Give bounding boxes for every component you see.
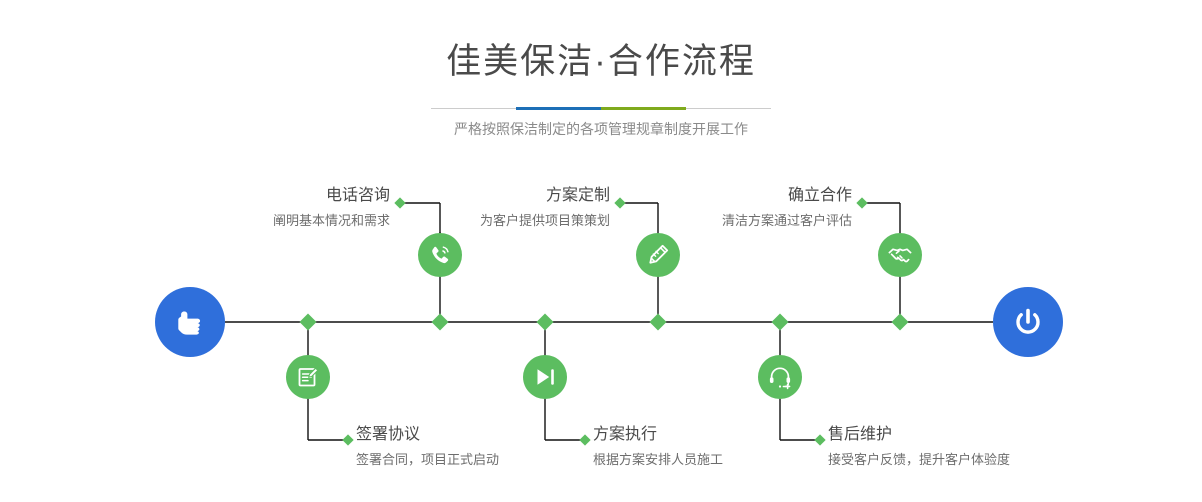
step-label-1: 电话咨询 阐明基本情况和需求 <box>150 188 390 227</box>
step-title-2: 签署协议 <box>356 427 616 443</box>
step-desc-6: 接受客户反馈，提升客户体验度 <box>828 453 1108 466</box>
step-label-2: 签署协议 签署合同，项目正式启动 <box>356 427 616 466</box>
timeline-diamonds <box>300 314 909 331</box>
flow-start-node[interactable] <box>155 287 225 357</box>
step-title-3: 方案定制 <box>370 188 610 204</box>
step-desc-4: 根据方案安排人员施工 <box>593 453 853 466</box>
step-desc-2: 签署合同，项目正式启动 <box>356 453 616 466</box>
step-node-4[interactable] <box>523 355 567 399</box>
headset-support-icon <box>766 363 794 391</box>
step-title-1: 电话咨询 <box>150 188 390 204</box>
step-desc-3: 为客户提供项目策策划 <box>370 214 610 227</box>
step-node-2[interactable] <box>286 355 330 399</box>
step-node-3[interactable] <box>636 233 680 277</box>
flowchart-page: 佳美保洁·合作流程 严格按照保洁制定的各项管理规章制度开展工作 <box>0 0 1202 502</box>
page-header: 佳美保洁·合作流程 严格按照保洁制定的各项管理规章制度开展工作 <box>0 0 1202 136</box>
step-title-4: 方案执行 <box>593 427 853 443</box>
step-title-6: 售后维护 <box>828 427 1108 443</box>
page-subtitle: 严格按照保洁制定的各项管理规章制度开展工作 <box>0 122 1202 136</box>
document-sign-icon <box>294 363 322 391</box>
flow-end-node[interactable] <box>993 287 1063 357</box>
phone-call-icon <box>426 241 454 269</box>
step-node-6[interactable] <box>758 355 802 399</box>
step-label-5: 确立合作 清洁方案通过客户评估 <box>612 188 852 227</box>
pencil-ruler-icon <box>644 241 672 269</box>
step-title-5: 确立合作 <box>612 188 852 204</box>
step-label-6: 售后维护 接受客户反馈，提升客户体验度 <box>828 427 1108 466</box>
step-label-4: 方案执行 根据方案安排人员施工 <box>593 427 853 466</box>
divider-segment-olive <box>601 107 686 110</box>
step-desc-5: 清洁方案通过客户评估 <box>612 214 852 227</box>
step-desc-1: 阐明基本情况和需求 <box>150 214 390 227</box>
step-node-1[interactable] <box>418 233 462 277</box>
play-execute-icon <box>531 363 559 391</box>
label-anchor-diamonds <box>342 197 867 445</box>
pointing-hand-icon <box>170 302 210 342</box>
title-divider <box>431 107 771 110</box>
step-node-5[interactable] <box>878 233 922 277</box>
handshake-icon <box>886 241 914 269</box>
divider-segment-blue <box>516 107 601 110</box>
page-title: 佳美保洁·合作流程 <box>0 44 1202 79</box>
step-label-3: 方案定制 为客户提供项目策策划 <box>370 188 610 227</box>
power-icon <box>1008 302 1048 342</box>
